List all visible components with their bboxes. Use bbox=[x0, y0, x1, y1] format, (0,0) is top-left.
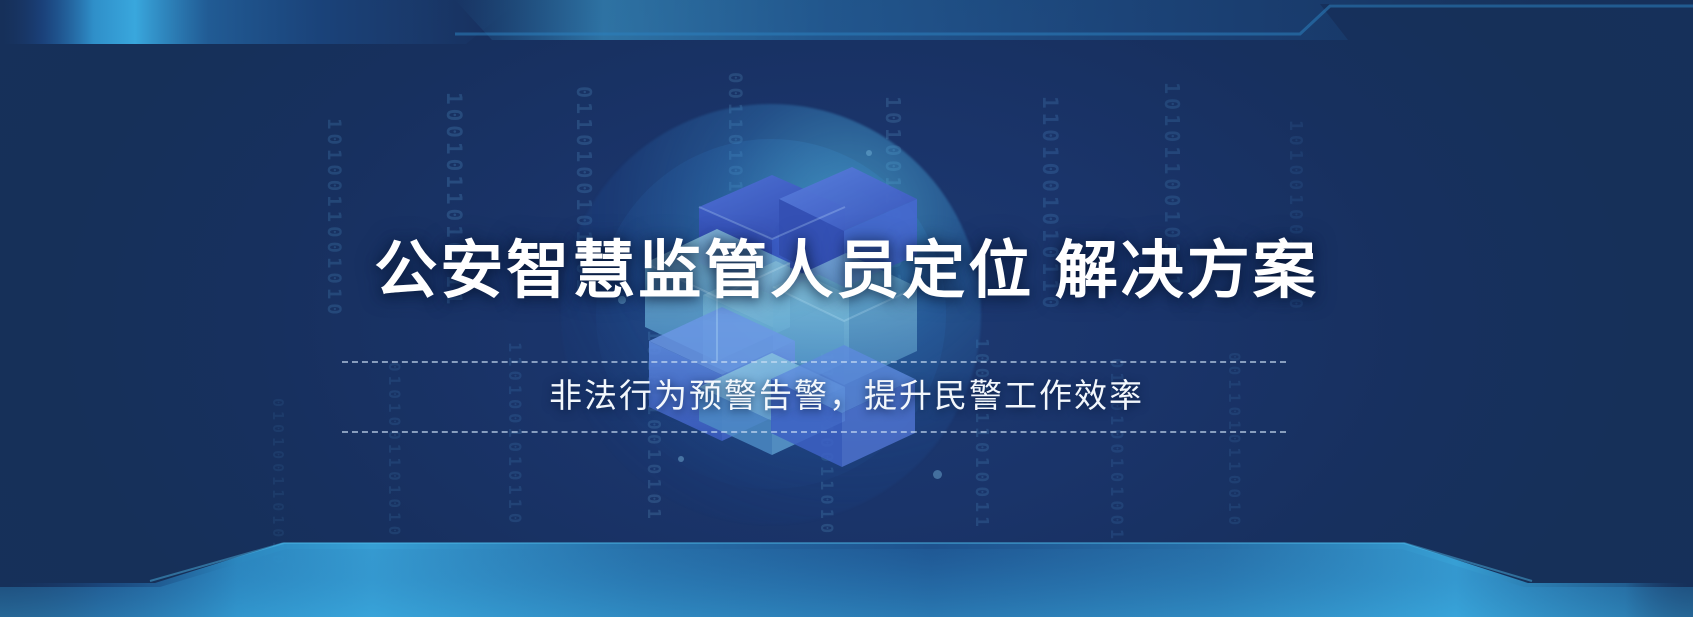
tech-notch-top bbox=[0, 0, 1693, 90]
particle-dot bbox=[933, 470, 942, 479]
banner-title: 公安智慧监管人员定位 解决方案 bbox=[0, 236, 1693, 307]
tech-notch-bottom bbox=[0, 507, 1693, 617]
solution-banner: 1010011001010 0101001101010 100101101001… bbox=[0, 0, 1693, 617]
banner-subtitle: 非法行为预警告警，提升民警工作效率 bbox=[0, 355, 1693, 431]
